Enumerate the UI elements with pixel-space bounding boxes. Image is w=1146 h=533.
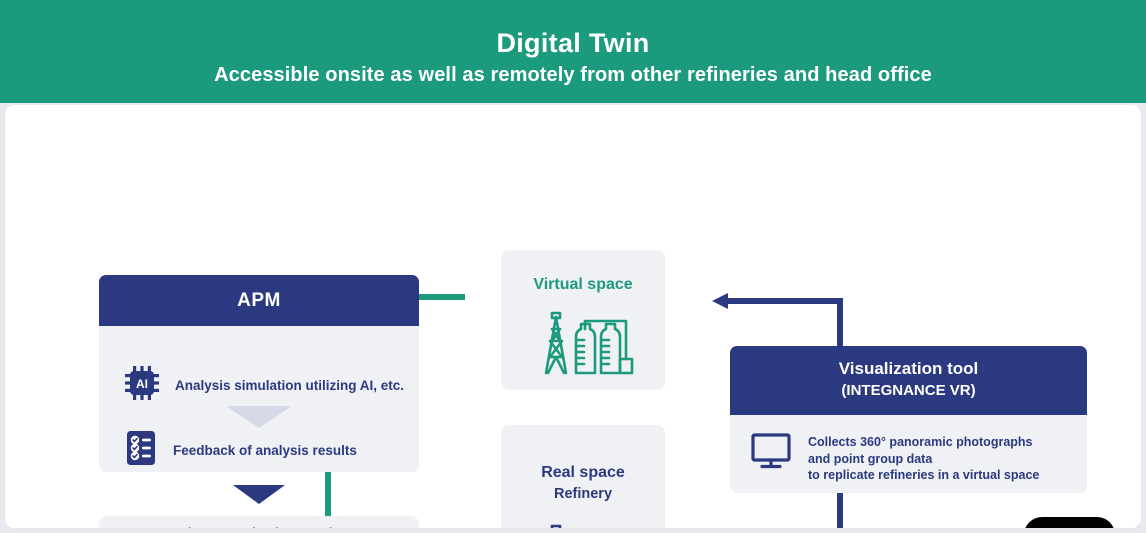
banner-title: Digital Twin: [0, 28, 1146, 59]
virtual-space-title: Virtual space: [501, 276, 665, 294]
apm-row-label: Analysis simulation utilizing AI, etc.: [175, 378, 404, 393]
apm-row-analysis: AI Analysis simulation utilizing AI, etc…: [123, 364, 404, 407]
banner-subtitle: Accessible onsite as well as remotely fr…: [0, 64, 1146, 87]
visualization-tool-subtitle: (INTEGNANCE VR): [730, 380, 1087, 402]
refinery-icon: [532, 307, 634, 384]
header-banner: Digital Twin Accessible onsite as well a…: [0, 0, 1146, 103]
refinery-icon: [532, 520, 634, 529]
ai-chip-icon: AI: [123, 364, 161, 407]
visualization-tool-title: Visualization tool: [730, 358, 1087, 380]
connector-vis-bottom-vertical: [837, 493, 843, 529]
connector-vis-top-horizontal: [727, 298, 843, 304]
visualization-tool-header: Visualization tool (INTEGNANCE VR): [730, 346, 1087, 415]
monitor-icon: [750, 432, 792, 475]
real-space-subtitle: Refinery: [501, 486, 665, 502]
visualization-tool-row: Collects 360° panoramic photographs and …: [750, 432, 1039, 484]
digital-twin-infographic: Digital Twin Accessible onsite as well a…: [0, 0, 1146, 533]
arrowhead-left-navy-icon: [712, 293, 728, 309]
maintenance-box: Maintenance implementation based on opti…: [99, 516, 419, 529]
down-triangle-icon: [226, 406, 292, 428]
maintenance-line-1: Maintenance implementation: [170, 525, 348, 529]
down-arrow-navy-icon: [233, 485, 285, 504]
checklist-icon: [123, 429, 159, 472]
maintenance-text: Maintenance implementation based on opti…: [99, 525, 419, 529]
visualization-tool-body: Collects 360° panoramic photographs and …: [730, 415, 1087, 493]
apm-panel-body: AI Analysis simulation utilizing AI, etc…: [99, 326, 419, 472]
connector-vis-top-vertical: [837, 298, 843, 348]
content-card: APM: [4, 105, 1142, 529]
apm-row-label: Feedback of analysis results: [173, 443, 357, 458]
real-space-title: Real space: [501, 464, 665, 482]
apm-row-feedback: Feedback of analysis results: [123, 429, 357, 472]
apm-panel-header: APM: [99, 275, 419, 326]
real-space-card: Real space Refinery: [501, 425, 665, 529]
visualization-tool-description: Collects 360° panoramic photographs and …: [808, 432, 1039, 484]
virtual-space-card: Virtual space: [501, 250, 665, 390]
connector-apm-vertical: [325, 472, 331, 516]
search-button[interactable]: [1024, 517, 1115, 529]
apm-header-label: APM: [237, 290, 281, 311]
svg-text:AI: AI: [136, 377, 148, 391]
connector-apm-to-virtual: [419, 294, 465, 300]
